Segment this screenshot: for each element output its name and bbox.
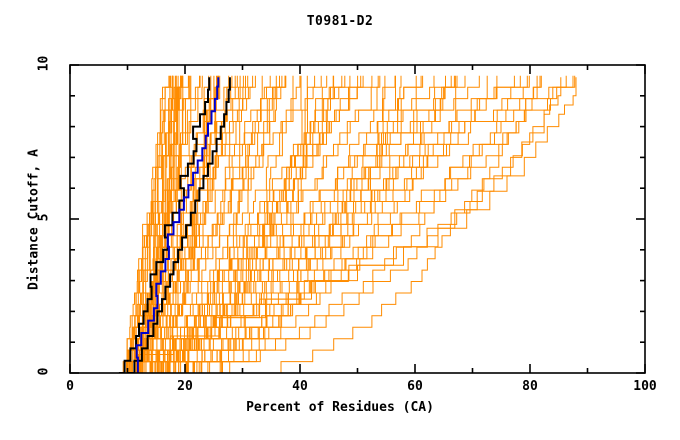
x-axis-title: Percent of Residues (CA)	[0, 400, 680, 415]
chart-root: T0981-D2 Percent of Residues (CA) Distan…	[0, 0, 680, 440]
x-tick-label: 60	[407, 379, 423, 394]
y-tick-label: 10	[37, 50, 52, 78]
x-tick-label: 100	[633, 379, 656, 394]
x-tick-label: 0	[66, 379, 74, 394]
x-tick-label: 20	[177, 379, 193, 394]
x-tick-label: 80	[522, 379, 538, 394]
y-tick-label: 0	[37, 358, 52, 386]
x-tick-label: 40	[292, 379, 308, 394]
plot-canvas	[0, 0, 680, 440]
y-tick-label: 5	[37, 204, 52, 232]
curve-layer	[112, 76, 576, 373]
